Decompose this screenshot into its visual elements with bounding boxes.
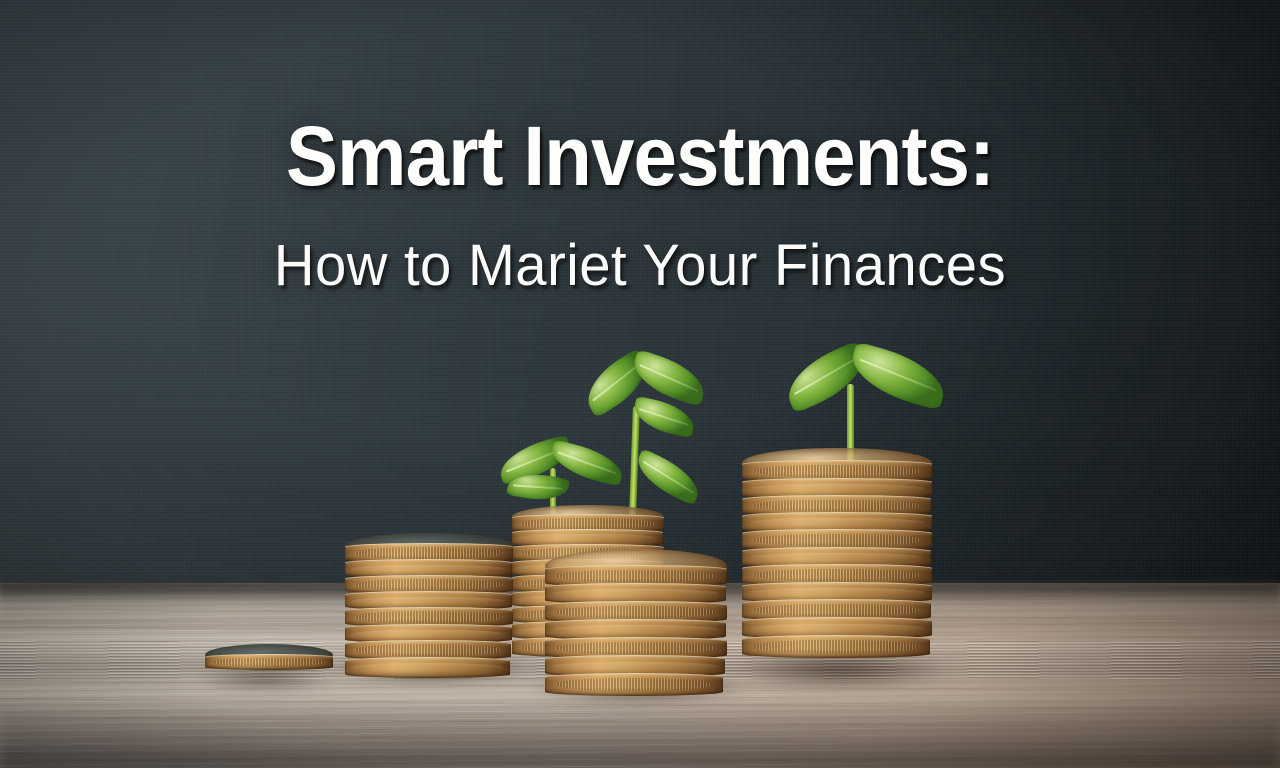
coin: [345, 657, 510, 678]
coin: [742, 635, 930, 658]
coin: [545, 673, 723, 696]
coin: [205, 654, 333, 670]
investment-banner: Smart Investments: How to Mariet Your Fi…: [0, 0, 1280, 768]
coin-stack-right-tall: [742, 448, 932, 663]
coin-scene: [0, 0, 1280, 768]
coin-stack-front: [545, 549, 727, 684]
coin-stack-left: [345, 533, 513, 668]
loose-coin: [205, 644, 333, 678]
leaf-right-upper-right: [845, 341, 951, 410]
